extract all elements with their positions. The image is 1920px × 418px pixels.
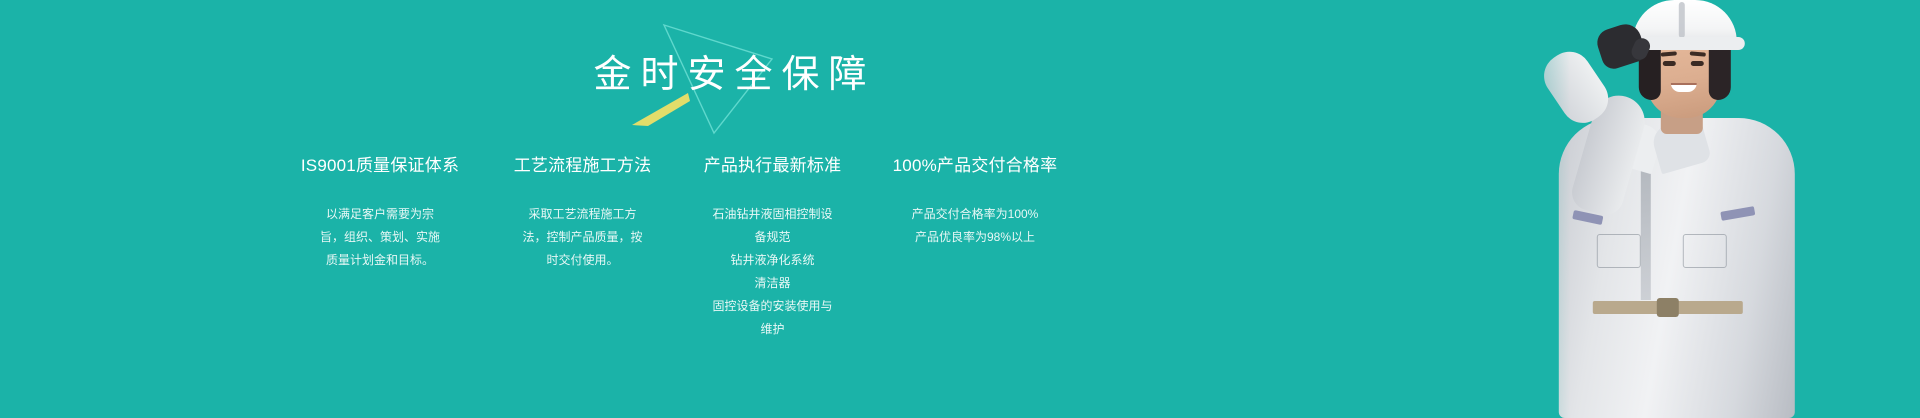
feature-line: 清洁器 [712, 272, 832, 295]
page-title: 金时安全保障 [0, 52, 1460, 98]
feature-line: 法，控制产品质量，按 [522, 226, 642, 249]
feature-column-1: IS9001质量保证体系 以满足客户需要为宗 旨，组织、策划、实施 质量计划金和… [280, 155, 480, 272]
feature-heading: 工艺流程施工方法 [514, 155, 652, 177]
safety-helmet-ridge [1679, 2, 1685, 38]
feature-line: 旨，组织、策划、实施 [320, 226, 440, 249]
worker-pocket-left [1597, 234, 1641, 268]
feature-line: 维护 [712, 318, 832, 341]
safety-guarantee-banner: 金时安全保障 IS9001质量保证体系 以满足客户需要为宗 旨，组织、策划、实施… [0, 0, 1920, 418]
worker-pocket-right [1683, 234, 1727, 268]
feature-line: 钻井液净化系统 [712, 249, 832, 272]
feature-column-3: 产品执行最新标准 石油钻井液固相控制设 备规范 钻井液净化系统 清洁器 固控设备… [685, 155, 860, 341]
feature-columns: IS9001质量保证体系 以满足客户需要为宗 旨，组织、策划、实施 质量计划金和… [280, 155, 1070, 341]
feature-line: 采取工艺流程施工方 [522, 203, 642, 226]
feature-column-4: 100%产品交付合格率 产品交付合格率为100% 产品优良率为98%以上 [880, 155, 1070, 249]
feature-body: 以满足客户需要为宗 旨，组织、策划、实施 质量计划金和目标。 [320, 203, 440, 272]
worker-photo [1400, 0, 1920, 418]
feature-heading: 100%产品交付合格率 [893, 155, 1058, 177]
feature-line: 产品交付合格率为100% [912, 203, 1039, 226]
feature-body: 采取工艺流程施工方 法，控制产品质量，按 时交付使用。 [522, 203, 642, 272]
worker-eye-left [1663, 61, 1676, 66]
feature-line: 以满足客户需要为宗 [320, 203, 440, 226]
feature-line: 石油钻井液固相控制设 [712, 203, 832, 226]
feature-body: 石油钻井液固相控制设 备规范 钻井液净化系统 清洁器 固控设备的安装使用与 维护 [712, 203, 832, 341]
feature-heading: IS9001质量保证体系 [301, 155, 459, 177]
feature-line: 备规范 [712, 226, 832, 249]
worker-belt-buckle [1657, 298, 1679, 317]
feature-heading: 产品执行最新标准 [704, 155, 842, 177]
triangle-accent-icon [632, 93, 692, 127]
feature-line: 质量计划金和目标。 [320, 249, 440, 272]
feature-body: 产品交付合格率为100% 产品优良率为98%以上 [912, 203, 1039, 249]
feature-line: 产品优良率为98%以上 [912, 226, 1039, 249]
feature-column-2: 工艺流程施工方法 采取工艺流程施工方 法，控制产品质量，按 时交付使用。 [500, 155, 665, 272]
feature-line: 时交付使用。 [522, 249, 642, 272]
worker-eye-right [1691, 61, 1704, 66]
photo-edge-fade [1400, 0, 1570, 418]
feature-line: 固控设备的安装使用与 [712, 295, 832, 318]
